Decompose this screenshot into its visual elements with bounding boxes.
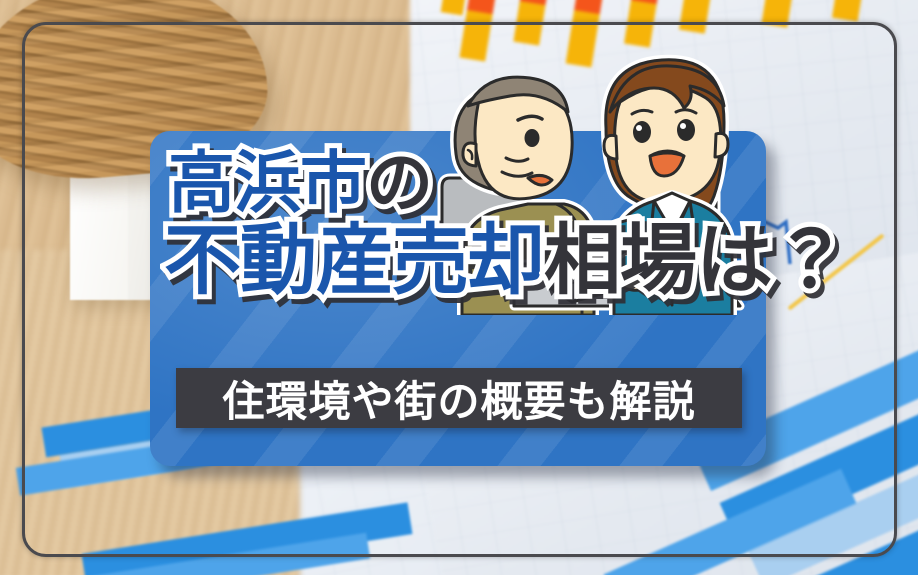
title-line-2: 不動産売却相場は？: [164, 223, 760, 300]
title-line-2-segment-1: 不動産売却: [164, 217, 544, 306]
title-line-1-segment-1: 高浜市: [168, 144, 366, 222]
house-window-pane-3: [92, 180, 107, 193]
woman-eye-right: [677, 119, 695, 141]
house-window-pane-4: [111, 178, 126, 191]
title-line-1: 高浜市の: [168, 150, 760, 217]
man-eye: [525, 129, 540, 147]
title-line-2-segment-2: 相場は？: [544, 217, 848, 306]
woman-eye-left-glint: [636, 125, 642, 131]
title-block: 高浜市の 不動産売却相場は？: [160, 150, 760, 300]
title-line-1-segment-2: の: [366, 144, 432, 222]
subtitle-text: 住環境や街の概要も解説: [222, 368, 695, 429]
subtitle-band: 住環境や街の概要も解説: [176, 368, 742, 428]
woman-eye-right-glint: [680, 123, 686, 129]
woman-eye-left: [633, 121, 651, 143]
